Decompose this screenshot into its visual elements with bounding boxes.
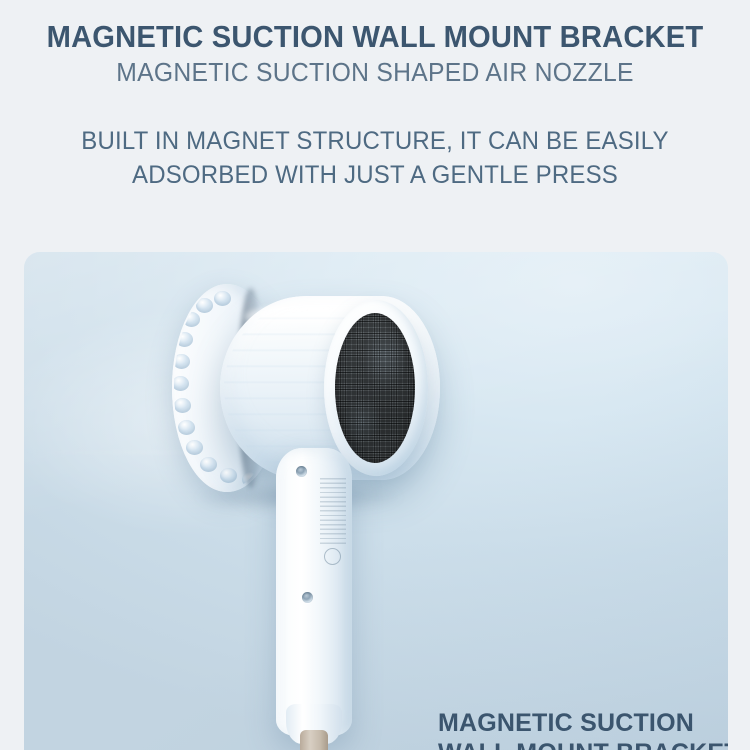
- handle-printed-label: [320, 478, 346, 546]
- overlay-primary-caption: MAGNETIC SUCTION WALL MOUNT BRACKET: [438, 708, 728, 750]
- mesh-grille: [335, 313, 415, 463]
- handle-screw-top: [296, 466, 307, 477]
- handle-certification-mark: [324, 548, 341, 565]
- hair-dryer-product: [24, 252, 728, 750]
- product-photo: MAGNETIC SUCTION WALL MOUNT BRACKET EASY…: [24, 252, 728, 750]
- page-subtitle: MAGNETIC SUCTION SHAPED AIR NOZZLE: [19, 57, 732, 88]
- tagline-block: BUILT IN MAGNET STRUCTURE, IT CAN BE EAS…: [15, 124, 735, 192]
- overlay-primary-line-1: MAGNETIC SUCTION: [438, 708, 728, 738]
- grille-mesh-texture: [335, 313, 415, 463]
- overlay-primary-line-2: WALL MOUNT BRACKET: [438, 738, 728, 750]
- tagline-line-1: BUILT IN MAGNET STRUCTURE, IT CAN BE EAS…: [15, 124, 735, 158]
- power-cord: [300, 730, 328, 750]
- handle-screw-middle: [302, 592, 313, 603]
- tagline-line-2: ADSORBED WITH JUST A GENTLE PRESS: [15, 158, 735, 192]
- page-title: MAGNETIC SUCTION WALL MOUNT BRACKET: [23, 20, 728, 54]
- header-text-block: MAGNETIC SUCTION WALL MOUNT BRACKET MAGN…: [0, 0, 750, 192]
